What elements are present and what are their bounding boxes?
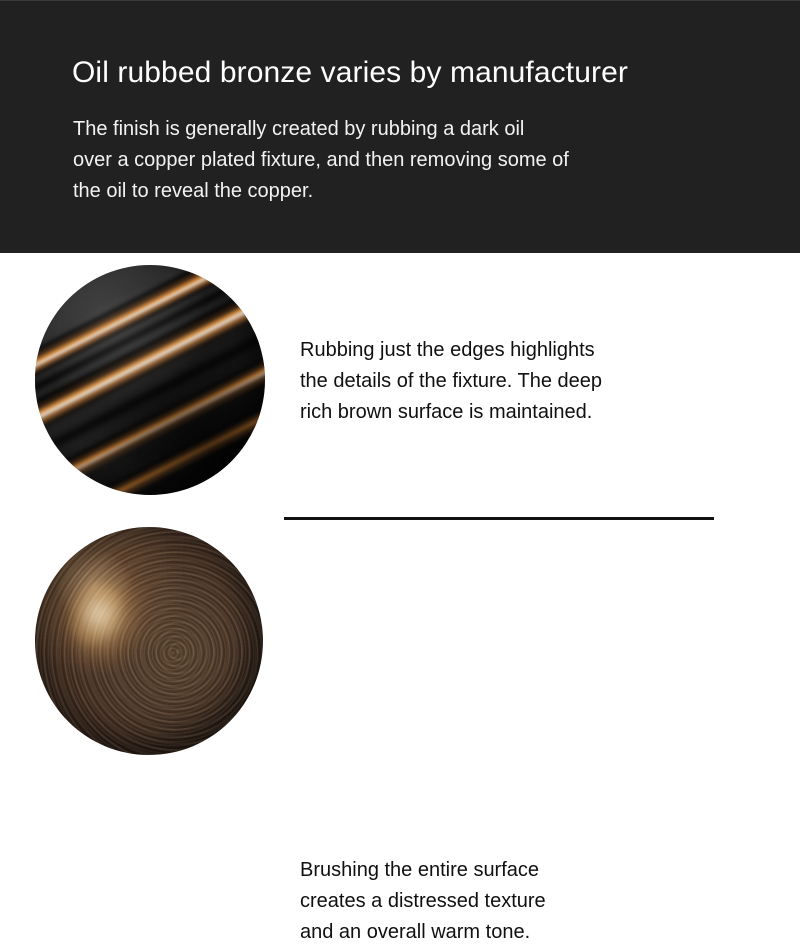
infographic-root: Oil rubbed bronze varies by manufacturer… — [0, 0, 800, 800]
copper-stripe-4 — [35, 370, 265, 495]
header-subcopy-line-1: The finish is generally created by rubbi… — [73, 114, 713, 145]
caption-brushed-line-1: Brushing the entire surface — [300, 855, 546, 886]
caption-brushed-line-2: creates a distressed texture — [300, 886, 546, 917]
sample-row-edge-rubbed: Rubbing just the edges highlights the de… — [0, 253, 800, 505]
dark-band-a — [35, 265, 265, 428]
caption-edge-rubbed-line-3: rich brown surface is maintained. — [300, 397, 602, 428]
header-panel: Oil rubbed bronze varies by manufacturer… — [0, 0, 800, 253]
caption-edge-rubbed: Rubbing just the edges highlights the de… — [300, 335, 602, 428]
page-title: Oil rubbed bronze varies by manufacturer — [72, 54, 628, 92]
header-subcopy-line-2: over a copper plated fixture, and then r… — [73, 145, 713, 176]
caption-brushed: Brushing the entire surface creates a di… — [300, 855, 546, 948]
caption-brushed-line-3: and an overall warm tone. — [300, 917, 546, 948]
caption-edge-rubbed-line-1: Rubbing just the edges highlights — [300, 335, 602, 366]
copper-stripe-3 — [35, 322, 265, 495]
body-region: Rubbing just the edges highlights the de… — [0, 253, 800, 800]
brushed-rings-coarse — [35, 527, 263, 755]
brushed-warm-bronze-swatch — [35, 527, 263, 755]
copper-stripe-2 — [35, 265, 265, 467]
swatch-sheen-overlay — [35, 265, 265, 495]
header-subcopy-line-3: the oil to reveal the copper. — [73, 176, 713, 207]
dark-band-b — [35, 294, 265, 495]
specular-highlight-core — [56, 574, 133, 655]
specular-highlight — [35, 535, 183, 718]
copper-stripe-1 — [35, 265, 265, 411]
caption-edge-rubbed-line-2: the details of the fixture. The deep — [300, 366, 602, 397]
swatch-vignette-overlay — [35, 527, 263, 755]
header-subcopy: The finish is generally created by rubbi… — [73, 114, 713, 207]
brushed-rings-fine — [35, 527, 263, 755]
edge-rubbed-dark-bronze-swatch — [35, 265, 265, 495]
sample-row-brushed: Brushing the entire surface creates a di… — [0, 519, 800, 769]
